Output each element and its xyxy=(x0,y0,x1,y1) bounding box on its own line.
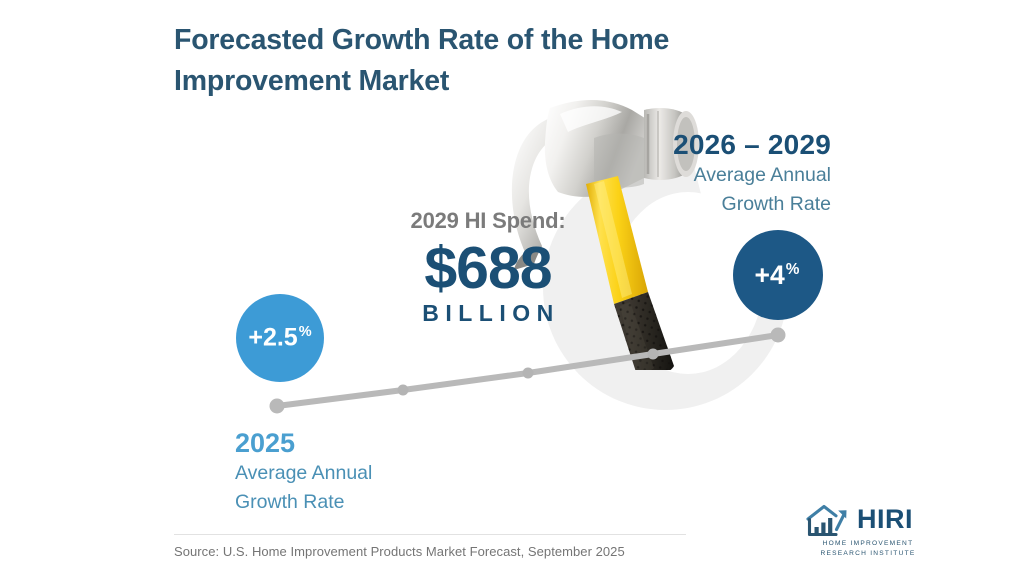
spend-callout: 2029 HI Spend: $688 BILLION xyxy=(372,208,604,327)
label-sub-right-line-2: Growth Rate xyxy=(556,190,831,219)
growth-badge-2026-2029-value: +4 xyxy=(755,260,785,290)
infographic-canvas: Forecasted Growth Rate of the Home Impro… xyxy=(0,0,1024,583)
label-years-2025: 2025 xyxy=(235,427,515,459)
label-years-2026-2029: 2026 – 2029 xyxy=(556,128,831,161)
growth-badge-2025: +2.5% xyxy=(236,294,324,382)
house-chart-icon xyxy=(805,503,853,539)
growth-badge-2025-value: +2.5 xyxy=(248,324,297,352)
growth-badge-2026-2029-inner: +4% xyxy=(755,262,800,289)
growth-badge-2025-inner: +2.5% xyxy=(248,325,311,350)
label-sub-left-line-1: Average Annual xyxy=(235,459,515,488)
source-note: Source: U.S. Home Improvement Products M… xyxy=(174,544,625,559)
label-block-2026-2029: 2026 – 2029 Average Annual Growth Rate xyxy=(556,128,831,218)
label-sub-left-line-2: Growth Rate xyxy=(235,488,515,517)
logo-tagline: HOME IMPROVEMENT RESEARCH INSTITUTE xyxy=(813,539,923,559)
spend-unit: BILLION xyxy=(372,301,604,326)
percent-symbol-right: % xyxy=(786,261,800,278)
label-block-2025: 2025 Average Annual Growth Rate xyxy=(235,427,515,517)
logo-tagline-line-2: RESEARCH INSTITUTE xyxy=(813,549,923,559)
spend-amount: $688 xyxy=(372,238,604,300)
hiri-logo: HIRI HOME IMPROVEMENT RESEARCH INSTITUTE xyxy=(805,503,923,559)
data-point-2025 xyxy=(270,399,285,414)
title-line-1: Forecasted Growth Rate of the Home xyxy=(174,20,774,61)
logo-tagline-line-1: HOME IMPROVEMENT xyxy=(813,539,923,549)
growth-badge-2026-2029: +4% xyxy=(733,230,823,320)
logo-wordmark: HIRI xyxy=(857,506,913,533)
label-sub-right-line-1: Average Annual xyxy=(556,161,831,190)
percent-symbol-left: % xyxy=(299,324,312,340)
footer-divider xyxy=(174,534,686,535)
data-point-2026 xyxy=(398,385,409,396)
